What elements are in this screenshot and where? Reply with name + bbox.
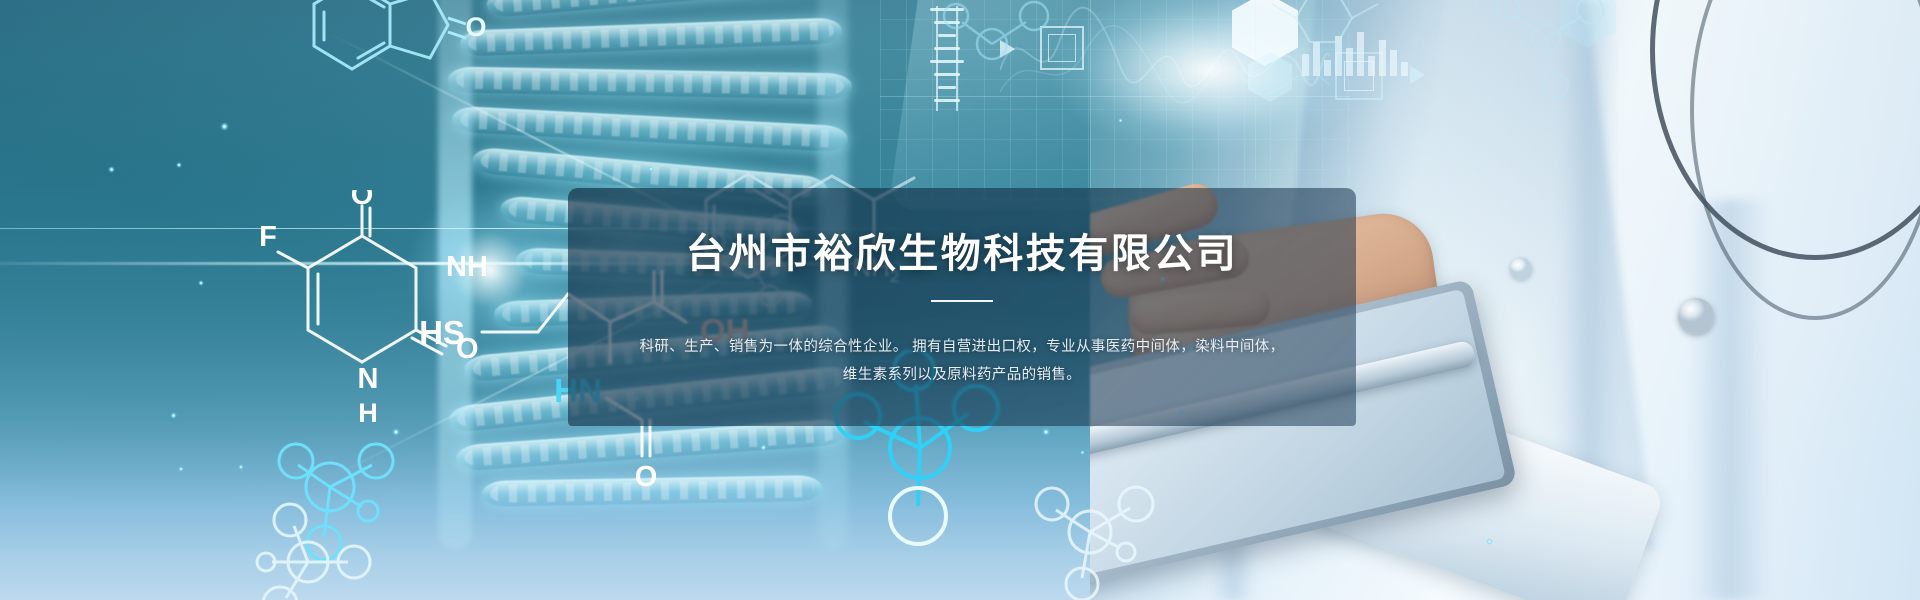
hud-rule	[880, 96, 1350, 97]
hero-subtitle-line-1: 科研、生产、销售为一体的综合性企业。 拥有自营进出口权，专业从事医药中间体，染料…	[639, 339, 1284, 355]
light-particle	[238, 464, 244, 470]
title-divider	[931, 300, 993, 302]
light-particle	[198, 280, 204, 286]
hero-banner: N O F O NH O N H	[0, 0, 1920, 600]
light-particle	[392, 428, 400, 436]
light-particle	[760, 444, 767, 451]
light-particle	[1042, 428, 1050, 436]
light-particle	[178, 466, 184, 472]
light-particle	[1486, 538, 1493, 545]
stethoscope-bell	[1678, 298, 1714, 334]
hero-subtitle-line-2: 维生素系列以及原料药产品的销售。	[602, 361, 1322, 389]
coat-button	[1510, 258, 1532, 280]
light-particle	[170, 412, 177, 419]
light-particle	[220, 122, 229, 131]
hud-rule	[1255, 0, 1256, 180]
hud-bright-glow	[1000, 0, 1420, 180]
light-particle	[648, 166, 654, 172]
light-particle	[108, 166, 115, 173]
light-particle	[176, 162, 182, 168]
page-title: 台州市裕欣生物科技有限公司	[568, 221, 1356, 279]
hud-rule	[1090, 0, 1091, 190]
light-particle	[1118, 118, 1123, 123]
light-particle	[1080, 450, 1085, 455]
hero-subtitle: 科研、生产、销售为一体的综合性企业。 拥有自营进出口权，专业从事医药中间体，染料…	[602, 333, 1322, 389]
hero-text-overlay: 台州市裕欣生物科技有限公司 科研、生产、销售为一体的综合性企业。 拥有自营进出口…	[568, 188, 1356, 426]
